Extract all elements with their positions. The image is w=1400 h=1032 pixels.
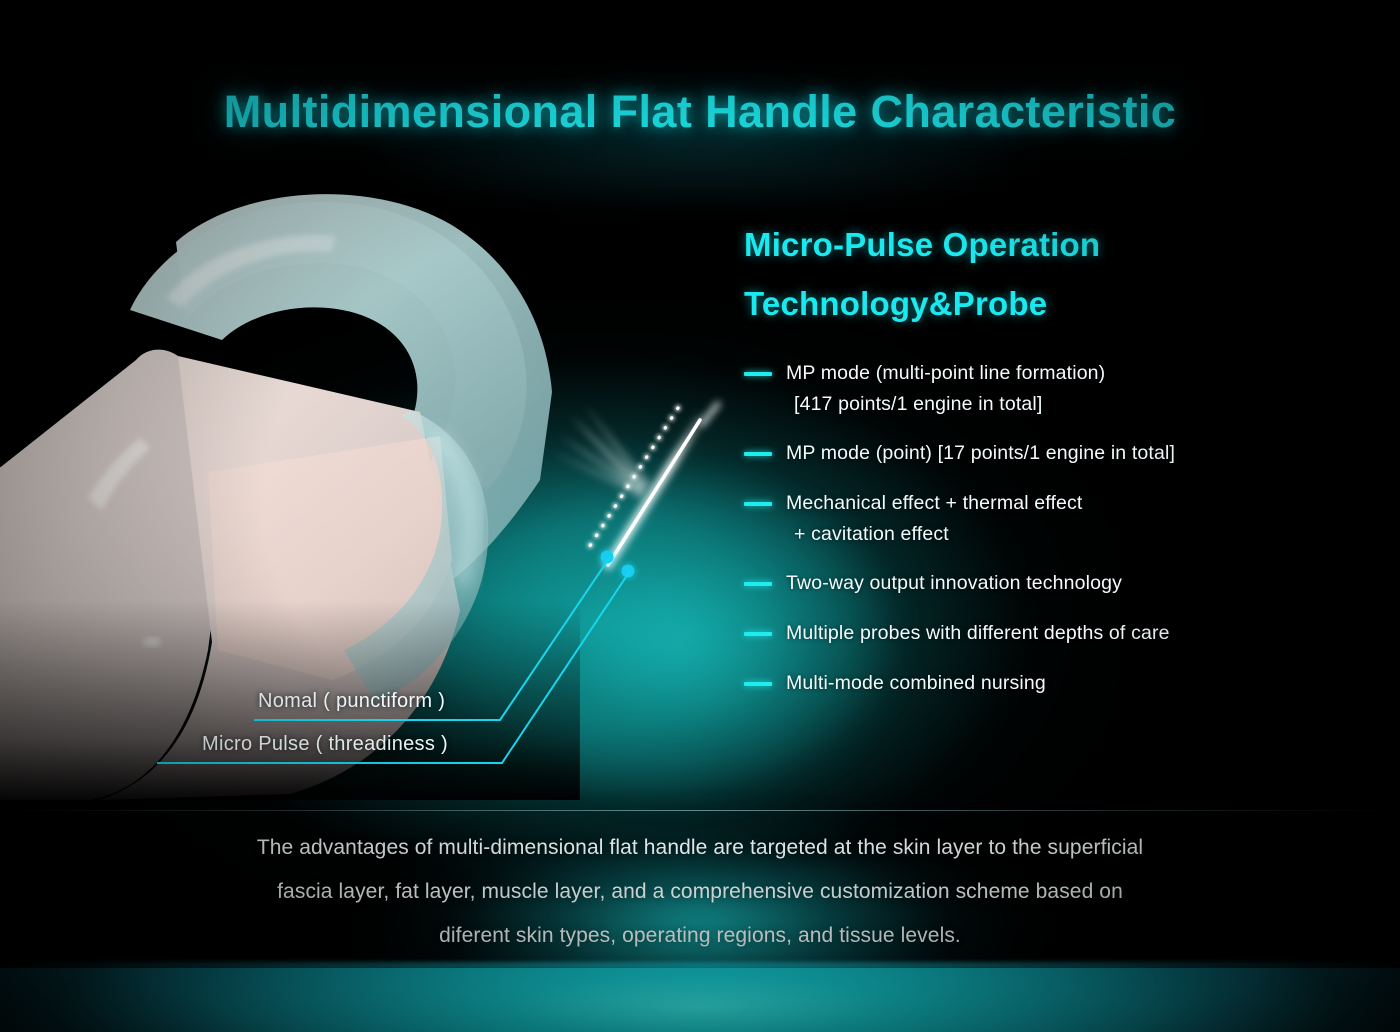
list-item: Multiple probes with different depths of…	[744, 620, 1344, 648]
list-item: MP mode (point) [17 points/1 engine in t…	[744, 440, 1344, 468]
caption-paragraph: The advantages of multi-dimensional flat…	[110, 826, 1290, 958]
page-title: Multidimensional Flat Handle Characteris…	[0, 86, 1400, 138]
caption-line-1: The advantages of multi-dimensional flat…	[110, 826, 1290, 870]
right-content-column: Micro-Pulse Operation Technology&Probe M…	[744, 228, 1344, 720]
list-item: Multi-mode combined nursing	[744, 670, 1344, 698]
section-subtitle-line1: Micro-Pulse Operation	[744, 228, 1344, 261]
feature-text: Multiple probes with different depths of…	[786, 622, 1170, 644]
bullet-dash-icon	[744, 682, 772, 686]
feature-text: Multi-mode combined nursing	[786, 672, 1046, 694]
feature-text: MP mode (point) [17 points/1 engine in t…	[786, 442, 1175, 464]
bullet-dash-icon	[744, 582, 772, 586]
list-item: Mechanical effect + thermal effect + cav…	[744, 490, 1344, 548]
feature-text: MP mode (multi-point line formation)	[786, 362, 1105, 384]
title-glow	[200, 40, 1200, 240]
feature-subtext: + cavitation effect	[786, 521, 1344, 549]
bottom-cyan-band	[0, 968, 1400, 1032]
feature-text: Mechanical effect + thermal effect	[786, 492, 1083, 514]
bullet-dash-icon	[744, 452, 772, 456]
section-subtitle-line2: Technology&Probe	[744, 287, 1344, 320]
slide-root: Nomal ( punctiform ) Micro Pulse ( threa…	[0, 0, 1400, 1032]
feature-subtext: [417 points/1 engine in total]	[786, 391, 1344, 419]
list-item: MP mode (multi-point line formation) [41…	[744, 360, 1344, 418]
feature-list: MP mode (multi-point line formation) [41…	[744, 360, 1344, 698]
feature-text: Two-way output innovation technology	[786, 572, 1122, 594]
bullet-dash-icon	[744, 632, 772, 636]
bullet-dash-icon	[744, 502, 772, 506]
list-item: Two-way output innovation technology	[744, 570, 1344, 598]
caption-line-3: diferent skin types, operating regions, …	[110, 914, 1290, 958]
bullet-dash-icon	[744, 372, 772, 376]
caption-line-2: fascia layer, fat layer, muscle layer, a…	[110, 870, 1290, 914]
